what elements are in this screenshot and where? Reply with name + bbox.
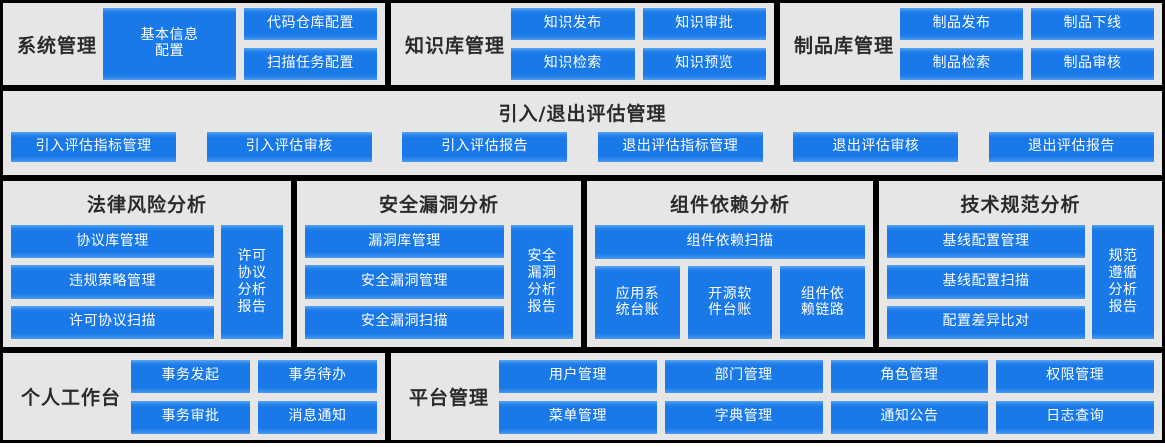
product-button-column-2: 制品下线 制品审核 [1031,8,1154,80]
button-knowledge-search[interactable]: 知识检索 [511,48,635,80]
system-button-column: 代码仓库配置 扫描任务配置 [244,8,377,80]
button-application-system-ledger[interactable]: 应用系 统台账 [595,266,680,339]
button-knowledge-preview[interactable]: 知识预览 [643,48,767,80]
button-security-vulnerability-management[interactable]: 安全漏洞管理 [305,265,504,298]
button-component-dependency-scan[interactable]: 组件依赖扫描 [595,225,865,259]
button-standard-compliance-analysis-report[interactable]: 规范 遵循 分析 报告 [1092,225,1154,339]
section-title-platform: 平台管理 [399,383,499,410]
system-button-group: 基本信息 配置 代码仓库配置 扫描任务配置 [103,8,377,80]
button-open-source-software-ledger[interactable]: 开源软 件台账 [688,266,773,339]
panel-legal-risk-analysis: 法律风险分析 协议库管理 违规策略管理 许可协议扫描 许可 协议 分析 报告 [0,178,294,350]
workbench-button-column-2: 事务待办 消息通知 [258,360,377,434]
button-security-vulnerability-scan[interactable]: 安全漏洞扫描 [305,306,504,339]
platform-button-column-2: 部门管理 字典管理 [665,360,823,434]
platform-button-column-1: 用户管理 菜单管理 [499,360,657,434]
component-button-row: 应用系 统台账 开源软 件台账 组件依 赖链路 [595,266,865,339]
button-product-offline[interactable]: 制品下线 [1031,8,1154,40]
panel-personal-workbench: 个人工作台 事务发起 事务审批 事务待办 消息通知 [0,350,388,443]
panel-system-management: 系统管理 基本信息 配置 代码仓库配置 扫描任务配置 [0,0,388,88]
panel-component-dependency-analysis: 组件依赖分析 组件依赖扫描 应用系 统台账 开源软 件台账 组件依 赖链路 [584,178,876,350]
button-role-management[interactable]: 角色管理 [831,360,989,393]
button-product-audit[interactable]: 制品审核 [1031,48,1154,80]
section-title-technical: 技术规范分析 [887,190,1154,217]
section-title-workbench: 个人工作台 [11,383,131,410]
panel-knowledge-management: 知识库管理 知识发布 知识检索 知识审批 知识预览 [388,0,777,88]
button-permission-management[interactable]: 权限管理 [996,360,1154,393]
button-config-difference-compare[interactable]: 配置差异比对 [887,306,1085,339]
button-product-search[interactable]: 制品检索 [900,48,1023,80]
analysis-row: 法律风险分析 协议库管理 违规策略管理 许可协议扫描 许可 协议 分析 报告 安… [0,178,1165,350]
knowledge-button-column-2: 知识审批 知识预览 [643,8,767,80]
product-button-column-1: 制品发布 制品检索 [900,8,1023,80]
section-title-product: 制品库管理 [788,31,900,58]
button-transaction-initiate[interactable]: 事务发起 [131,360,250,393]
workbench-button-group: 事务发起 事务审批 事务待办 消息通知 [131,360,377,434]
button-exit-eval-audit[interactable]: 退出评估审核 [793,132,958,162]
button-announcement[interactable]: 通知公告 [831,401,989,434]
button-exit-eval-index-management[interactable]: 退出评估指标管理 [598,132,763,162]
panel-evaluation-management: 引入/退出评估管理 引入评估指标管理 引入评估审核 引入评估报告 退出评估指标管… [0,88,1165,178]
button-code-repo-config[interactable]: 代码仓库配置 [244,8,377,40]
bottom-row: 个人工作台 事务发起 事务审批 事务待办 消息通知 平台管理 用户管理 菜单管理 [0,350,1165,443]
button-menu-management[interactable]: 菜单管理 [499,401,657,434]
button-transaction-approval[interactable]: 事务审批 [131,401,250,434]
button-transaction-todo[interactable]: 事务待办 [258,360,377,393]
button-violation-policy-management[interactable]: 违规策略管理 [11,265,214,298]
button-knowledge-approve[interactable]: 知识审批 [643,8,767,40]
button-vulnerability-analysis-report[interactable]: 安全 漏洞 分析 报告 [511,225,573,339]
technical-button-column: 基线配置管理 基线配置扫描 配置差异比对 [887,225,1085,339]
platform-button-group: 用户管理 菜单管理 部门管理 字典管理 角色管理 通知公告 权限管理 日志查询 [499,360,1154,434]
section-title-vulnerability: 安全漏洞分析 [305,190,573,217]
workbench-button-column-1: 事务发起 事务审批 [131,360,250,434]
button-user-management[interactable]: 用户管理 [499,360,657,393]
panel-security-vulnerability-analysis: 安全漏洞分析 漏洞库管理 安全漏洞管理 安全漏洞扫描 安全 漏洞 分析 报告 [294,178,584,350]
button-scan-task-config[interactable]: 扫描任务配置 [244,48,377,80]
button-log-query[interactable]: 日志查询 [996,401,1154,434]
evaluation-button-group: 引入评估指标管理 引入评估审核 引入评估报告 退出评估指标管理 退出评估审核 退… [7,132,1158,162]
section-title-component: 组件依赖分析 [595,190,865,217]
button-intro-eval-index-management[interactable]: 引入评估指标管理 [11,132,176,162]
button-license-agreement-scan[interactable]: 许可协议扫描 [11,306,214,339]
button-agreement-library-management[interactable]: 协议库管理 [11,225,214,258]
vulnerability-body: 漏洞库管理 安全漏洞管理 安全漏洞扫描 安全 漏洞 分析 报告 [305,225,573,339]
platform-button-column-3: 角色管理 通知公告 [831,360,989,434]
technical-body: 基线配置管理 基线配置扫描 配置差异比对 规范 遵循 分析 报告 [887,225,1154,339]
panel-product-repository-management: 制品库管理 制品发布 制品检索 制品下线 制品审核 [777,0,1165,88]
button-vulnerability-library-management[interactable]: 漏洞库管理 [305,225,504,258]
panel-technical-standard-analysis: 技术规范分析 基线配置管理 基线配置扫描 配置差异比对 规范 遵循 分析 报告 [876,178,1165,350]
button-license-analysis-report[interactable]: 许可 协议 分析 报告 [221,225,283,339]
button-product-publish[interactable]: 制品发布 [900,8,1023,40]
section-title-system: 系统管理 [11,31,103,58]
button-department-management[interactable]: 部门管理 [665,360,823,393]
knowledge-button-column-1: 知识发布 知识检索 [511,8,635,80]
panel-platform-management: 平台管理 用户管理 菜单管理 部门管理 字典管理 角色管理 通知公告 权限管理 … [388,350,1165,443]
button-message-notification[interactable]: 消息通知 [258,401,377,434]
button-baseline-config-scan[interactable]: 基线配置扫描 [887,265,1085,298]
section-title-evaluation: 引入/退出评估管理 [7,99,1158,126]
button-dictionary-management[interactable]: 字典管理 [665,401,823,434]
button-component-dependency-chain[interactable]: 组件依 赖链路 [780,266,865,339]
knowledge-button-group: 知识发布 知识检索 知识审批 知识预览 [511,8,766,80]
product-button-group: 制品发布 制品检索 制品下线 制品审核 [900,8,1154,80]
button-intro-eval-audit[interactable]: 引入评估审核 [207,132,372,162]
button-intro-eval-report[interactable]: 引入评估报告 [402,132,567,162]
button-exit-eval-report[interactable]: 退出评估报告 [989,132,1154,162]
platform-button-column-4: 权限管理 日志查询 [996,360,1154,434]
top-row: 系统管理 基本信息 配置 代码仓库配置 扫描任务配置 知识库管理 知识发布 知识… [0,0,1165,88]
button-knowledge-publish[interactable]: 知识发布 [511,8,635,40]
vulnerability-button-column: 漏洞库管理 安全漏洞管理 安全漏洞扫描 [305,225,504,339]
module-map: 系统管理 基本信息 配置 代码仓库配置 扫描任务配置 知识库管理 知识发布 知识… [0,0,1165,447]
component-body: 组件依赖扫描 应用系 统台账 开源软 件台账 组件依 赖链路 [595,225,865,339]
section-title-legal: 法律风险分析 [11,190,283,217]
button-basic-info-config[interactable]: 基本信息 配置 [103,8,236,80]
legal-body: 协议库管理 违规策略管理 许可协议扫描 许可 协议 分析 报告 [11,225,283,339]
button-baseline-config-management[interactable]: 基线配置管理 [887,225,1085,258]
evaluation-row: 引入/退出评估管理 引入评估指标管理 引入评估审核 引入评估报告 退出评估指标管… [0,88,1165,178]
section-title-knowledge: 知识库管理 [399,31,511,58]
legal-button-column: 协议库管理 违规策略管理 许可协议扫描 [11,225,214,339]
